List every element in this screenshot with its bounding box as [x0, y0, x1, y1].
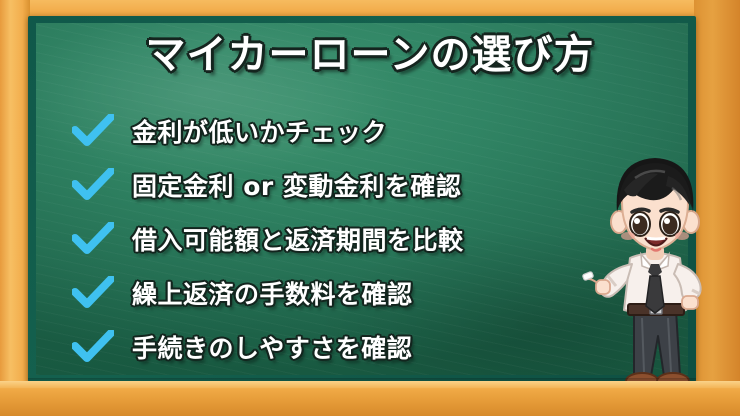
list-item: 手続きのしやすさを確認 [72, 320, 592, 374]
list-item-label: 繰上返済の手数料を確認 [132, 275, 413, 311]
list-item-label: 借入可能額と返済期間を比較 [132, 221, 464, 257]
list-item-label: 固定金利 or 変動金利を確認 [132, 167, 461, 203]
check-icon [72, 168, 114, 202]
checklist: 金利が低いかチェック 固定金利 or 変動金利を確認 借入可能額と返済期間を比較 [72, 104, 592, 374]
check-icon [72, 114, 114, 148]
list-item: 繰上返済の手数料を確認 [72, 266, 592, 320]
chibi-teacher-illustration [572, 150, 736, 400]
list-item: 固定金利 or 変動金利を確認 [72, 158, 592, 212]
chalk-ledge-lip [0, 381, 740, 388]
check-icon [72, 330, 114, 364]
list-item-label: 金利が低いかチェック [132, 113, 387, 149]
list-item: 金利が低いかチェック [72, 104, 592, 158]
list-item-label: 手続きのしやすさを確認 [132, 329, 412, 365]
page-title: マイカーローンの選び方 [0, 22, 740, 80]
list-item: 借入可能額と返済期間を比較 [72, 212, 592, 266]
chalkboard-slide: マイカーローンの選び方 金利が低いかチェック 固定金利 or 変動金利を確認 [0, 0, 740, 416]
check-icon [72, 276, 114, 310]
check-icon [72, 222, 114, 256]
